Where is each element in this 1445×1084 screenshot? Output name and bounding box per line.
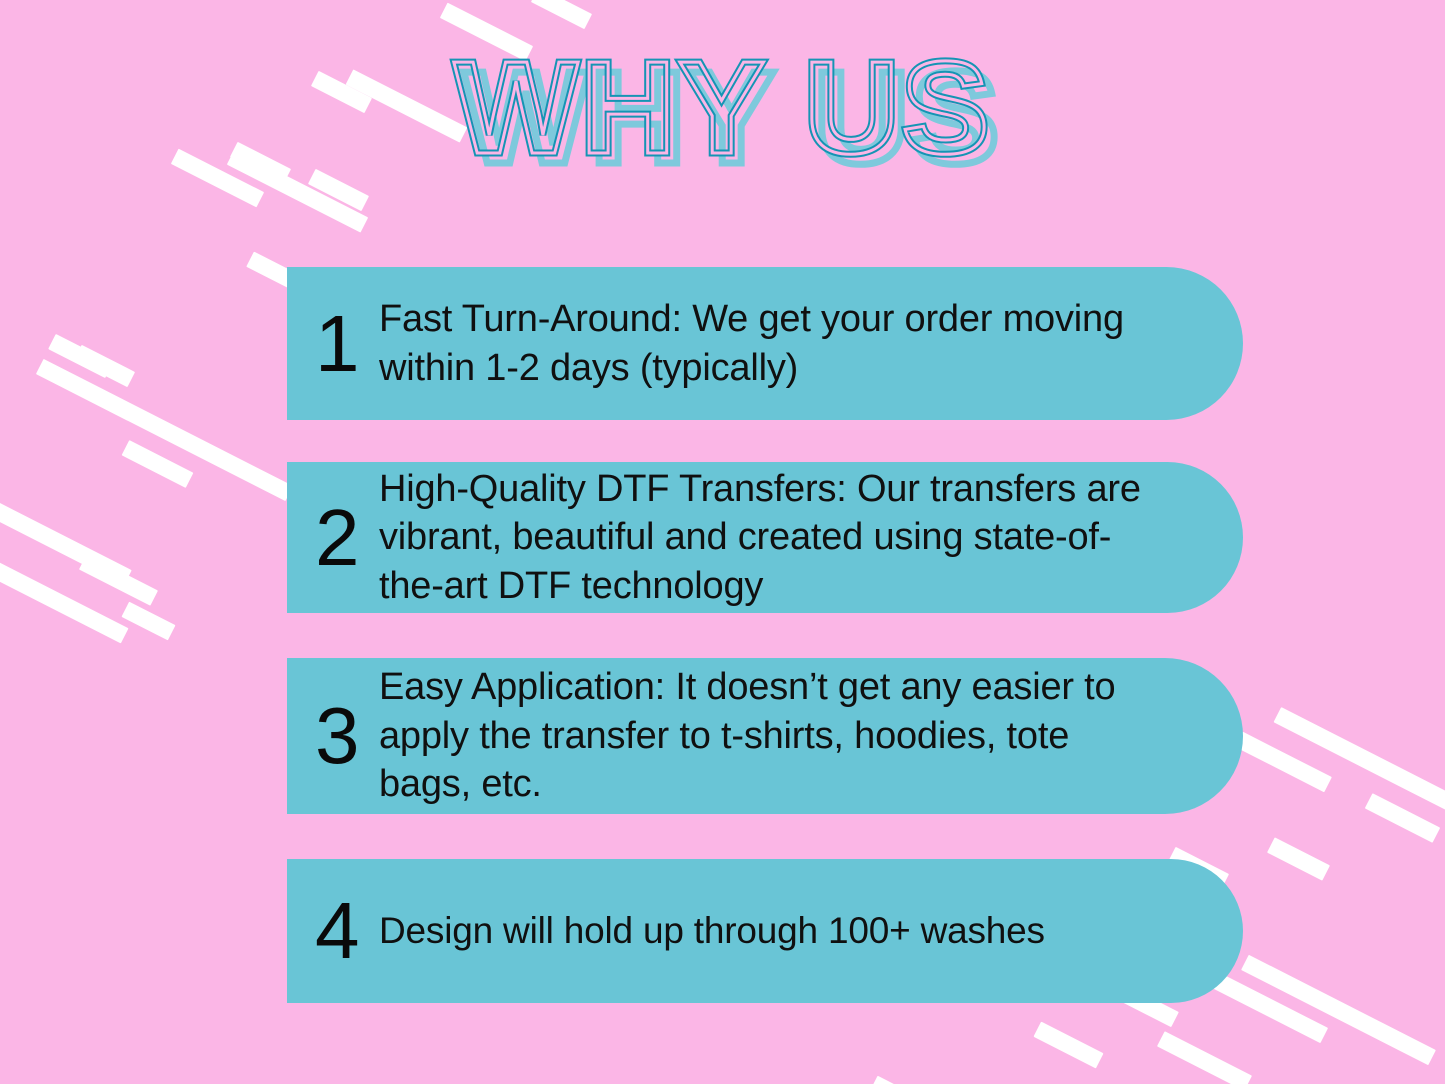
title-inner-layer: WHY US xyxy=(0,38,1445,178)
list-item-number: 2 xyxy=(315,501,379,575)
decorative-dash xyxy=(1157,1031,1252,1084)
decorative-dash xyxy=(1033,1022,1103,1069)
decorative-dash xyxy=(121,602,175,641)
list-item-text: Easy Application: It doesn’t get any eas… xyxy=(379,663,1153,809)
list-item-text: Fast Turn-Around: We get your order movi… xyxy=(379,295,1153,392)
decorative-dash xyxy=(1365,793,1440,843)
decorative-dash xyxy=(48,334,113,378)
list-item-text: High-Quality DTF Transfers: Our transfer… xyxy=(379,465,1153,611)
decorative-dash xyxy=(1241,955,1436,1065)
decorative-dash xyxy=(122,440,194,488)
list-item-number: 1 xyxy=(315,307,379,381)
decorative-dash xyxy=(74,345,135,387)
list-item: 4 Design will hold up through 100+ washe… xyxy=(287,859,1243,1003)
decorative-dash xyxy=(870,1076,947,1084)
decorative-dash xyxy=(36,359,293,501)
decorative-dash xyxy=(1274,707,1445,813)
list-item: 2 High-Quality DTF Transfers: Our transf… xyxy=(287,462,1243,613)
decorative-dash xyxy=(79,554,158,605)
decorative-dash xyxy=(0,457,132,586)
poster-canvas: WHY US WHY US WHY US 1 Fast Turn-Around:… xyxy=(0,0,1445,1084)
list-item-number: 3 xyxy=(315,699,379,773)
list-item-number: 4 xyxy=(315,894,379,968)
decorative-dash xyxy=(1235,732,1332,793)
list-item-text: Design will hold up through 100+ washes xyxy=(379,907,1153,954)
list-item: 3 Easy Application: It doesn’t get any e… xyxy=(287,658,1243,814)
decorative-dash xyxy=(1267,837,1330,880)
benefits-list: 1 Fast Turn-Around: We get your order mo… xyxy=(287,267,1243,1003)
page-title: WHY US WHY US WHY US xyxy=(0,38,1445,178)
list-item: 1 Fast Turn-Around: We get your order mo… xyxy=(287,267,1243,420)
decorative-dash xyxy=(0,547,129,644)
decorative-dash xyxy=(531,0,592,29)
